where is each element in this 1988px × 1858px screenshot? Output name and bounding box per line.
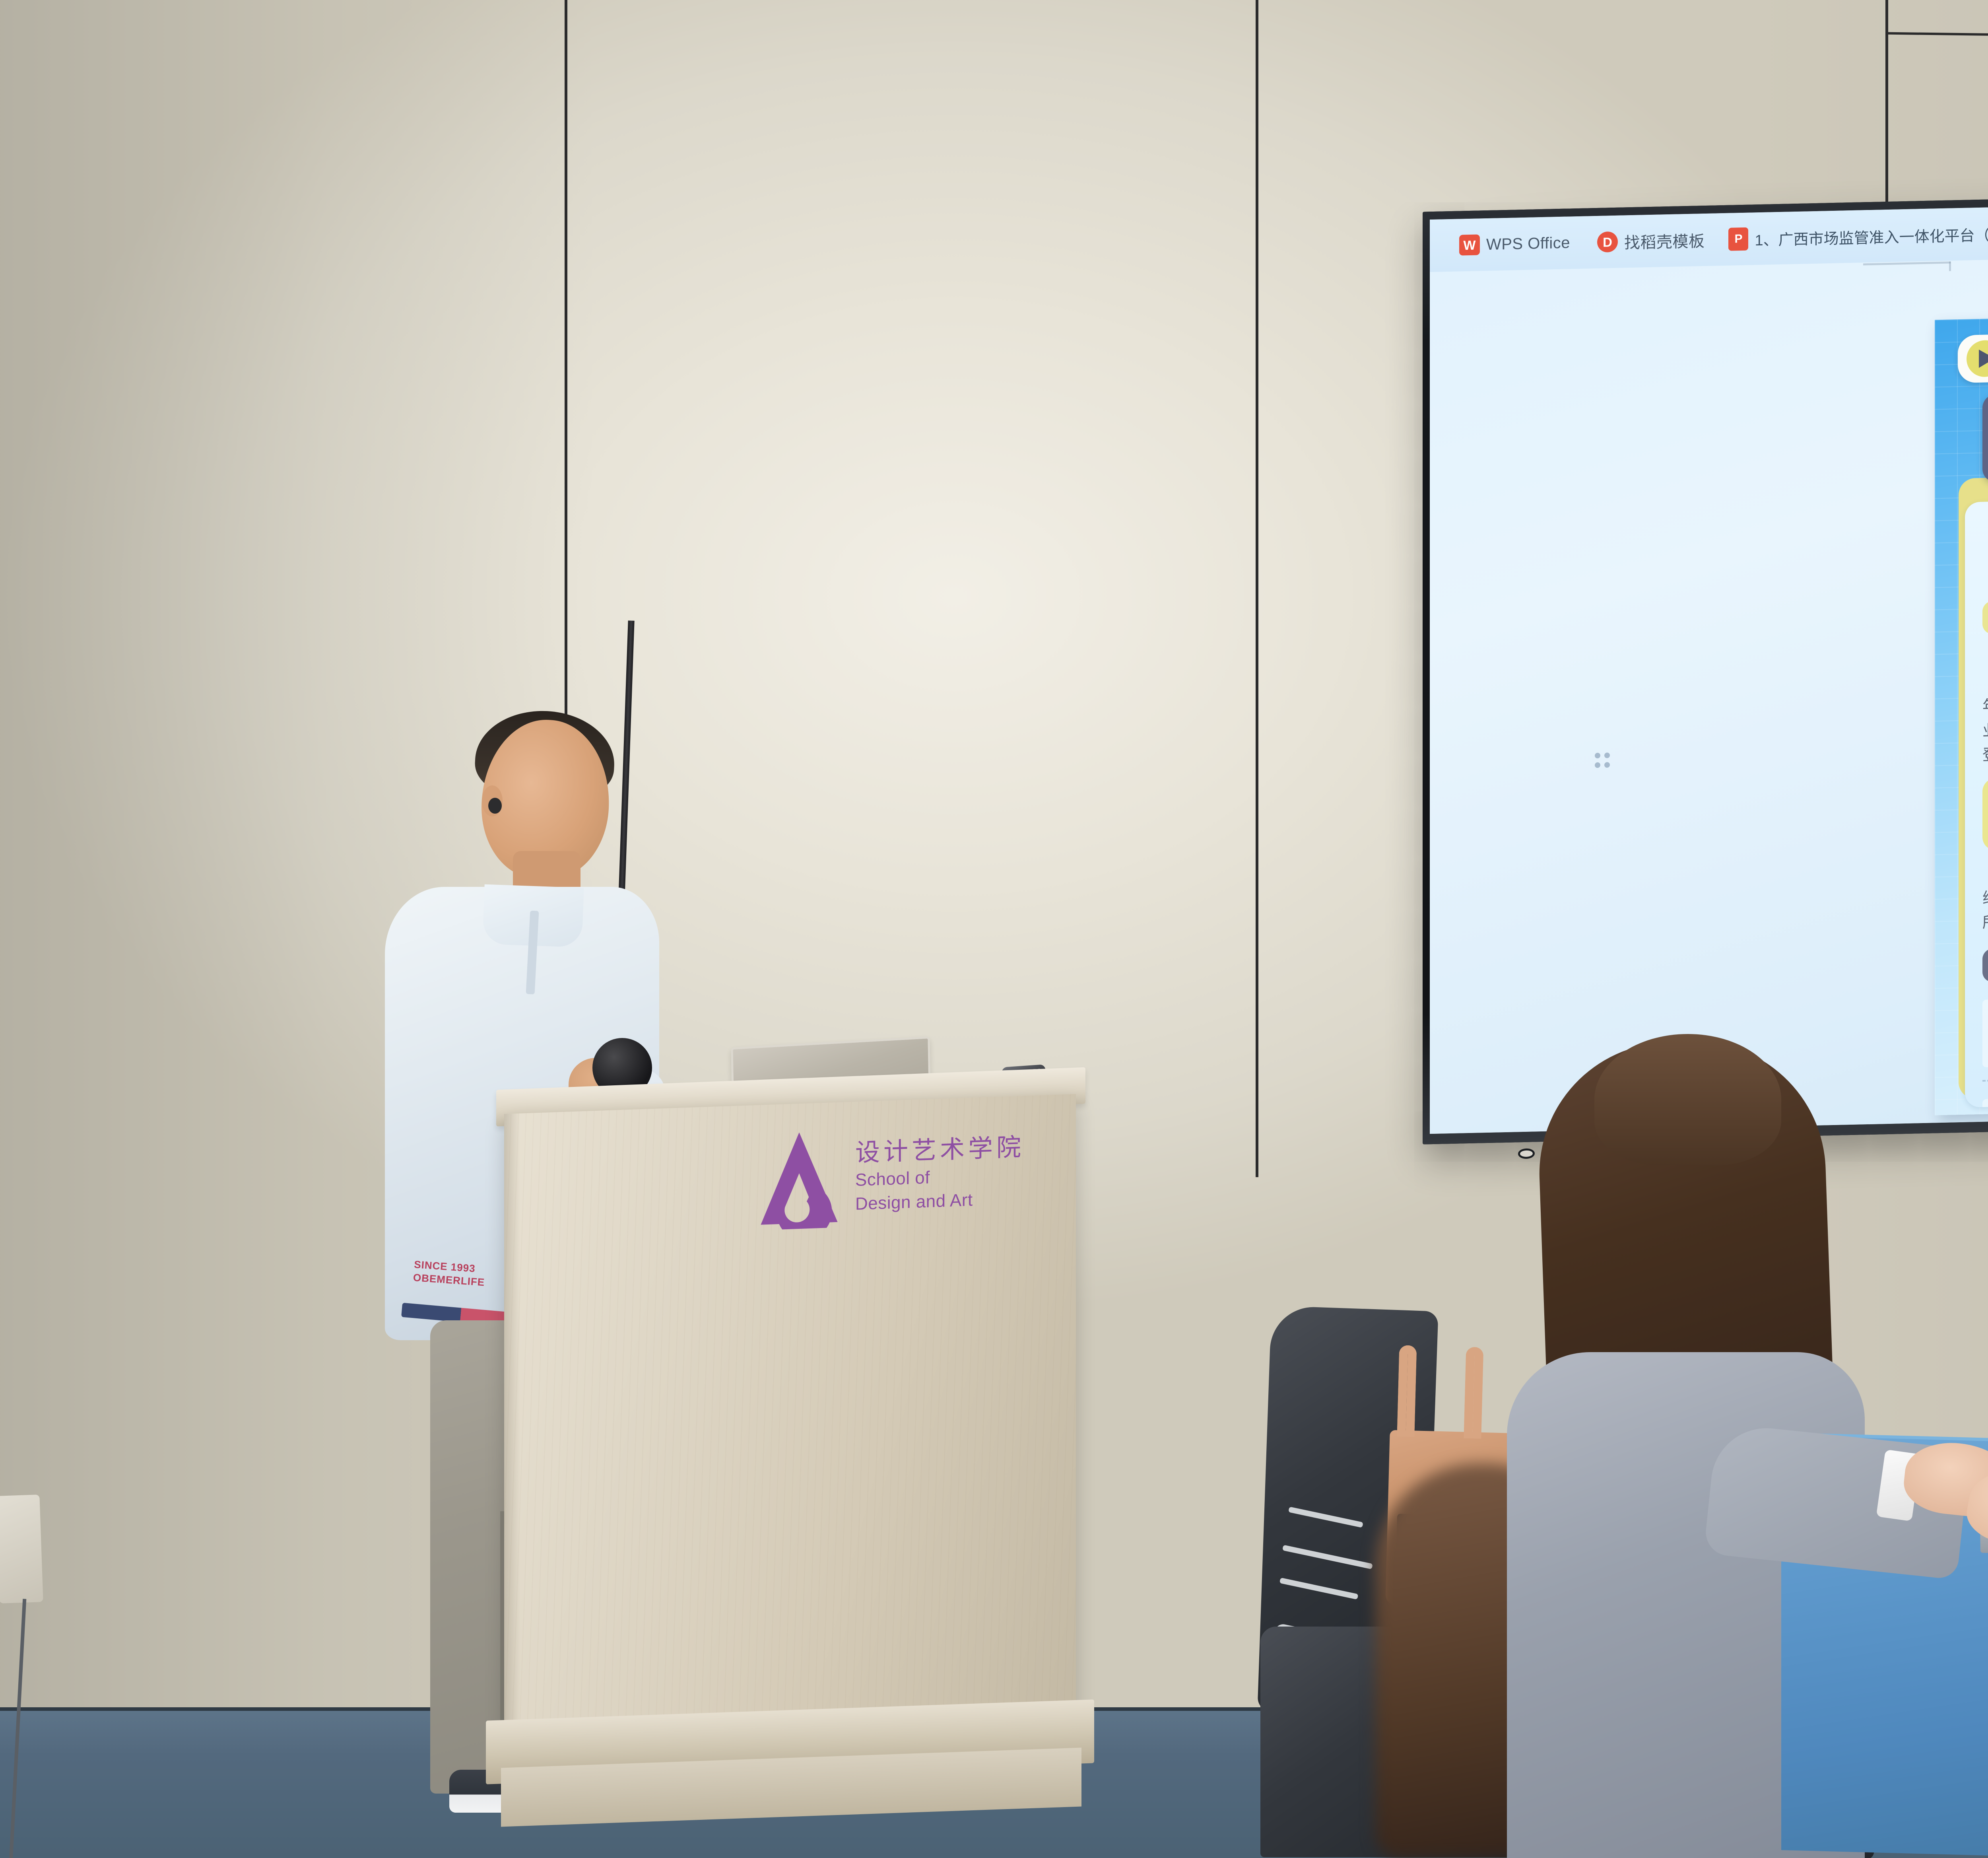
ruler-tick bbox=[1863, 262, 1951, 266]
lecture-hall-photo: W WPS Office D 找稻壳模板 P 1、广西市场监管准入一体化平台（2… bbox=[0, 0, 1988, 1858]
template-shortcut-label: 找稻壳模板 bbox=[1624, 228, 1705, 253]
display-screen[interactable]: W WPS Office D 找稻壳模板 P 1、广西市场监管准入一体化平台（2… bbox=[1430, 190, 1988, 1134]
play-arrow-icon bbox=[1967, 340, 1988, 377]
wps-office-icon: W bbox=[1459, 234, 1480, 255]
comparison-divider bbox=[1982, 1073, 1988, 1082]
wall-seam-vertical bbox=[1256, 0, 1258, 1177]
tab-ppt-guangxi[interactable]: P 1、广西市场监管准入一体化平台（2 bbox=[1718, 215, 1988, 258]
comparison-key: 小于 bbox=[1982, 998, 1988, 1067]
slide-amount-card: 24000元 为限额 bbox=[1982, 771, 1988, 851]
slide-title-card: 一、高校毕业生 创办个体工商户 bbox=[1982, 388, 1988, 482]
podium-logo-english-1: School of bbox=[855, 1164, 1025, 1191]
template-library-icon: D bbox=[1597, 231, 1618, 253]
podium-logo: 设计艺术学院 School of Design and Art bbox=[757, 1104, 1068, 1246]
slide-subsection-badge: （一）高校毕业生创业税费扣减 bbox=[1982, 595, 1988, 634]
ruler-tick bbox=[1949, 262, 1951, 271]
tab-label: 1、广西市场监管准入一体化平台（2 bbox=[1755, 222, 1988, 249]
drag-handle-dots-icon[interactable] bbox=[1595, 752, 1610, 768]
powerpoint-file-icon: P bbox=[1728, 227, 1748, 251]
slide-dark-badge: 纳税人年度应缴纳的税款 bbox=[1982, 944, 1988, 982]
in-ear-monitor-icon bbox=[488, 798, 502, 814]
podium-logo-chinese: 设计艺术学院 bbox=[855, 1134, 1025, 1167]
comparison-row-greater-than: 大于 上述扣减限额的 以上述扣减限额为限 bbox=[1982, 1092, 1988, 1108]
podium-logo-english-2: Design and Art bbox=[855, 1188, 1025, 1215]
attendee-hair-crown bbox=[1594, 1034, 1781, 1165]
slide-paragraph-2: 依次扣减其当年实际应缴纳的增值税、城市维护建设税、教育费附加、地方教育附加和个人… bbox=[1982, 854, 1988, 935]
left-wall-object bbox=[0, 1495, 43, 1603]
slide-content: 创业篇 （一）高校毕业生创业税费扣减 自2023年1月1日起至2027年12月3… bbox=[1935, 311, 1988, 1115]
wps-office-label: WPS Office bbox=[1486, 234, 1570, 254]
document-canvas[interactable]: 创业篇 （一）高校毕业生创业税费扣减 自2023年1月1日起至2027年12月3… bbox=[1430, 243, 1988, 1134]
wall-display[interactable]: W WPS Office D 找稻壳模板 P 1、广西市场监管准入一体化平台（2… bbox=[1423, 182, 1988, 1144]
wall-seam-vertical bbox=[1885, 0, 1888, 207]
slide-paragraph-1: 自2023年1月1日起至2027年12月31日持《就业创业证》（注明"自主创业税… bbox=[1982, 638, 1988, 768]
wps-office-brand[interactable]: W WPS Office bbox=[1446, 224, 1584, 264]
slide-body-card: （一）高校毕业生创业税费扣减 自2023年1月1日起至2027年12月31日持《… bbox=[1965, 494, 1988, 1108]
school-monogram-icon bbox=[757, 1128, 841, 1230]
comparison-key: 大于 bbox=[1982, 1098, 1988, 1108]
template-shortcut[interactable]: D 找稻壳模板 bbox=[1584, 221, 1718, 260]
comparison-row-less-than: 小于 上述扣减限额的 减免税额以实际缴纳的税款为限 bbox=[1982, 992, 1988, 1067]
